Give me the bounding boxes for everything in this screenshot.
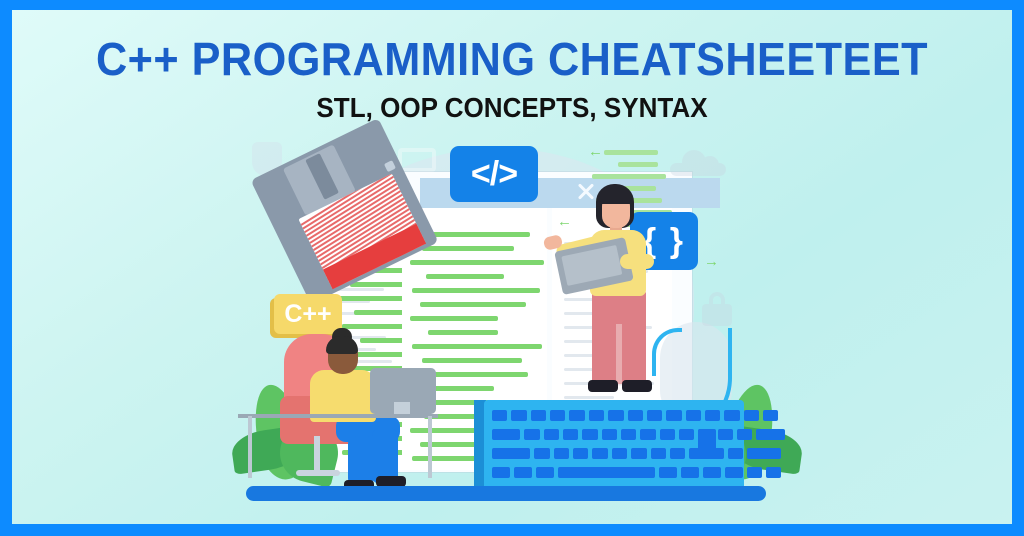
keyboard-key[interactable] xyxy=(514,467,532,478)
keyboard-key-enter[interactable] xyxy=(698,429,716,459)
keyboard-key[interactable] xyxy=(679,429,694,440)
keyboard-key[interactable] xyxy=(621,429,636,440)
code-line xyxy=(420,302,526,307)
keyboard-key[interactable] xyxy=(492,448,530,459)
keyboard-key[interactable] xyxy=(558,467,655,478)
keyboard-key[interactable] xyxy=(511,410,526,421)
keyboard-key[interactable] xyxy=(534,448,549,459)
shoe-right xyxy=(622,380,652,392)
keyboard-key[interactable] xyxy=(492,429,520,440)
keyboard-key[interactable] xyxy=(640,429,655,440)
keyboard-key[interactable] xyxy=(724,410,739,421)
keyboard-key[interactable] xyxy=(602,429,617,440)
standing-developer xyxy=(564,184,684,414)
arm-right xyxy=(620,254,654,269)
keyboard-key[interactable] xyxy=(659,467,677,478)
desk-leg-right xyxy=(428,416,432,478)
keyboard-key[interactable] xyxy=(737,429,752,440)
code-line xyxy=(604,150,658,155)
ground-bar xyxy=(246,486,766,501)
cloud-icon xyxy=(670,150,726,176)
keyboard-key[interactable] xyxy=(582,429,597,440)
keyboard-key[interactable] xyxy=(651,448,666,459)
banner-heading: C++ PROGRAMMING CHEATSHEETEET STL, OOP C… xyxy=(12,36,1012,122)
keyboard-key[interactable] xyxy=(492,410,507,421)
keyboard-key[interactable] xyxy=(563,429,578,440)
banner-root: C++ PROGRAMMING CHEATSHEETEET STL, OOP C… xyxy=(0,0,1024,536)
code-line xyxy=(592,174,666,179)
page-subtitle: STL, OOP CONCEPTS, SYNTAX xyxy=(47,94,977,122)
chair-pole xyxy=(314,436,320,472)
keyboard-key[interactable] xyxy=(492,467,510,478)
keyboard-key[interactable] xyxy=(660,429,675,440)
monitor-stand xyxy=(394,402,410,414)
keyboard-key[interactable] xyxy=(612,448,627,459)
keyboard-key[interactable] xyxy=(573,448,588,459)
code-line xyxy=(422,246,514,251)
keyboard-key[interactable] xyxy=(536,467,554,478)
banner-inner: C++ PROGRAMMING CHEATSHEETEET STL, OOP C… xyxy=(12,10,1012,524)
keyboard-key[interactable] xyxy=(756,429,784,440)
code-line xyxy=(412,288,540,293)
keyboard-key[interactable] xyxy=(554,448,569,459)
leg-lower-back xyxy=(348,436,374,486)
code-line xyxy=(426,274,504,279)
keyboard-key[interactable] xyxy=(747,467,762,478)
keyboard-key[interactable] xyxy=(703,467,721,478)
keyboard-key[interactable] xyxy=(766,467,781,478)
keyboard-key[interactable] xyxy=(531,410,546,421)
arrow-right-brace-icon: → xyxy=(704,254,719,269)
code-line xyxy=(410,260,544,265)
seated-developer xyxy=(252,324,462,494)
keyboard-key[interactable] xyxy=(744,410,759,421)
chair-base xyxy=(296,470,340,476)
keyboard-key[interactable] xyxy=(705,410,720,421)
keyboard-key[interactable] xyxy=(686,410,701,421)
keyboard-key[interactable] xyxy=(728,448,743,459)
lock-icon xyxy=(702,292,732,326)
keyboard-key[interactable] xyxy=(592,448,607,459)
keyboard-key[interactable] xyxy=(725,467,743,478)
page-title: C++ PROGRAMMING CHEATSHEETEET xyxy=(42,36,982,82)
code-line xyxy=(410,316,498,321)
hero-illustration: ←←→ </> { } C++ xyxy=(252,142,782,514)
keyboard-key[interactable] xyxy=(670,448,685,459)
code-line xyxy=(618,162,658,167)
code-tag-badge[interactable]: </> xyxy=(450,146,538,202)
keyboard-key[interactable] xyxy=(763,410,778,421)
arrow-left-top-icon: ← xyxy=(588,144,603,159)
keyboard-key[interactable] xyxy=(718,429,733,440)
keyboard-key[interactable] xyxy=(544,429,559,440)
leg-split xyxy=(616,324,622,386)
hair xyxy=(326,336,358,354)
shoe-left xyxy=(588,380,618,392)
keyboard-key[interactable] xyxy=(747,448,780,459)
keyboard-key[interactable] xyxy=(631,448,646,459)
desk-top xyxy=(238,414,438,418)
desk-leg-left xyxy=(248,416,252,478)
keyboard-key[interactable] xyxy=(681,467,699,478)
keyboard-key[interactable] xyxy=(524,429,539,440)
